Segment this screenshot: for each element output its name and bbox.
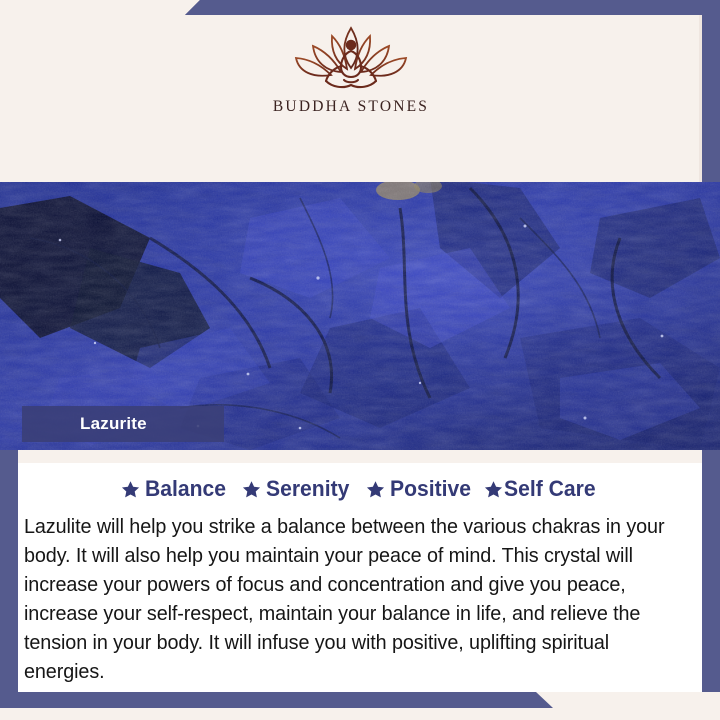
star-icon [242,480,261,499]
brand-logo: BUDDHA STONES [0,22,702,116]
benefit-item-self-care: Self Care [484,476,599,502]
stone-name-label: Lazurite [80,414,147,434]
benefit-item-serenity: Serenity [242,476,353,502]
header: BUDDHA STONES [0,0,702,182]
stone-name-badge: Lazurite [22,406,224,442]
star-icon [366,480,385,499]
content-right-rail [702,450,720,692]
content-left-rail [0,450,18,692]
header-right-rail-hairline [699,15,702,182]
benefit-label: Positive [390,476,471,502]
content-section: Balance Serenity Positive Self Care [0,450,720,720]
benefit-item-balance: Balance [121,476,229,502]
infographic-page: BUDDHA STONES [0,0,720,720]
bottom-filler [0,708,720,720]
header-right-rail [702,0,720,182]
brand-name: BUDDHA STONES [273,98,429,116]
bottom-accent-band [0,692,720,708]
benefit-label: Serenity [266,476,349,502]
benefit-label: Balance [145,476,226,502]
star-icon [484,480,503,499]
star-icon [121,480,140,499]
description-text: Lazulite will help you strike a balance … [24,512,667,686]
benefits-list: Balance Serenity Positive Self Care [18,476,702,502]
content-card-top-strip [18,450,702,463]
benefit-item-positive: Positive [366,476,474,502]
lotus-meditation-icon [276,22,426,94]
benefit-label: Self Care [504,476,596,502]
